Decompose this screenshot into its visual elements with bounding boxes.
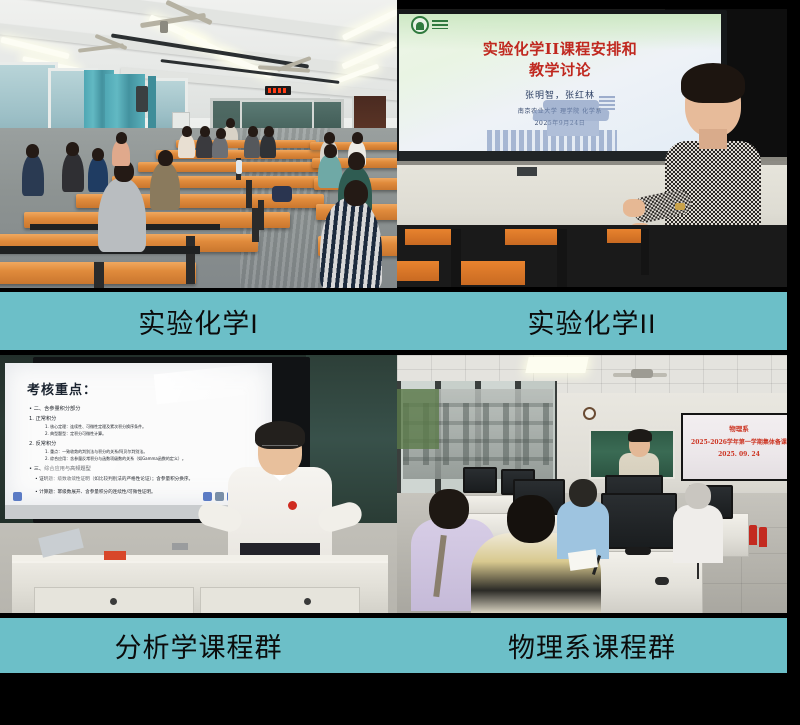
ceiling-fan-icon — [613, 369, 667, 379]
fire-extinguisher — [749, 525, 757, 545]
wall-mount-bracket — [517, 167, 537, 176]
paper-sheet — [568, 549, 598, 571]
audience-member — [88, 156, 108, 192]
control-panel — [172, 543, 188, 550]
presenter-hand — [623, 199, 645, 217]
teacher-badge — [288, 501, 297, 510]
panel-top-left[interactable]: 实验化学I — [0, 0, 397, 350]
screen-toolbar-icon — [13, 492, 22, 501]
audience-head — [66, 142, 79, 156]
presenter-neck — [699, 129, 727, 149]
seated-person-head — [429, 489, 469, 529]
audience-head — [26, 144, 39, 158]
podium-drawer — [200, 587, 360, 613]
slide-title: 考核重点： — [27, 379, 97, 398]
caption-bottom-right: 物理系课程群 — [397, 618, 787, 673]
audience-member — [178, 134, 195, 158]
presenter-watch — [675, 203, 685, 210]
audience-member — [62, 152, 84, 192]
audience-head — [158, 150, 173, 166]
audience-member — [260, 134, 276, 158]
seat-post — [451, 229, 461, 287]
audience-head — [116, 132, 127, 144]
seated-person-head — [569, 479, 597, 507]
slide-line: 1. 核心定理：连续性、可微性定理及累次积分换序条件。 — [45, 424, 146, 430]
panel-bottom-left[interactable]: 考核重点： • 二、含参量积分部分 1. 正常积分 1. 核心定理：连续性、可微… — [0, 350, 397, 725]
panel-bottom-right[interactable]: 物理系 2025-2026学年第一学期集体备课 2025. 09. 24 — [397, 350, 800, 725]
slide-line: 1. 正常积分 — [29, 415, 56, 422]
university-logo-icon — [407, 16, 449, 34]
drawer-knob — [110, 598, 117, 605]
screen-toolbar-icon — [215, 492, 224, 501]
photo-computer-lab: 物理系 2025-2026学年第一学期集体备课 2025. 09. 24 — [397, 355, 787, 613]
projector-screen: 实验化学II课程安排和 教学讨论 张明智，张红林 南京农业大学 理学院 化学系 … — [399, 14, 721, 151]
mouse — [655, 577, 669, 585]
audience-head — [352, 132, 363, 144]
monitor-stand — [625, 547, 651, 555]
red-box — [104, 551, 126, 560]
seated-person-head — [507, 495, 555, 543]
display-screen: 物理系 2025-2026学年第一学期集体备课 2025. 09. 24 — [681, 413, 787, 481]
slide-subtitle: 2025-2026学年第一学期集体备课 — [683, 437, 787, 446]
slide-date: 2025. 09. 24 — [683, 451, 787, 458]
display-screen-content: 物理系 2025-2026学年第一学期集体备课 2025. 09. 24 — [683, 415, 787, 479]
screen-toolbar-icon — [203, 492, 212, 501]
desk-support — [186, 236, 195, 284]
slide-title-line2: 教学讨论 — [399, 59, 721, 80]
photo-projector-presentation: 实验化学II课程安排和 教学讨论 张明智，张红林 南京农业大学 理学院 化学系 … — [397, 9, 787, 287]
audience-member — [98, 178, 146, 252]
audience-head — [324, 132, 335, 144]
audience-member — [196, 134, 213, 158]
slide-title-line1: 实验化学II课程安排和 — [399, 38, 721, 59]
desk-support — [94, 262, 104, 288]
audience-head — [248, 126, 258, 137]
ceiling-panel-light — [525, 357, 588, 373]
caption-top-left: 实验化学I — [0, 292, 397, 350]
presenter-hair — [681, 63, 745, 103]
laptop — [38, 528, 84, 558]
desk-row — [112, 176, 334, 188]
audience-head — [324, 144, 337, 158]
screen-glare — [154, 364, 261, 405]
slide-line: 2. 反常积分 — [29, 440, 56, 447]
water-bottle — [236, 160, 242, 174]
drawer-knob — [304, 598, 311, 605]
seat-post — [557, 229, 567, 287]
led-clock-display — [265, 86, 291, 95]
slide-line: 1. 重点：一致收敛的判别法与积分的关系/阿贝尔判别法。 — [45, 449, 147, 455]
audience-head — [216, 128, 226, 139]
monitor — [601, 493, 677, 549]
photo-whiteboard-lecture: 考核重点： • 二、含参量积分部分 1. 正常积分 1. 核心定理：连续性、可微… — [0, 355, 397, 613]
audience-member — [22, 154, 44, 196]
photo-grid: 实验化学I 实验化学II课程安排和 教学讨论 张明智，张红林 南京农业大学 理学… — [0, 0, 800, 725]
audience-member — [212, 136, 228, 158]
audience-head — [92, 148, 104, 161]
outside-foliage — [397, 389, 439, 449]
seated-person-head — [685, 483, 711, 509]
wall-clock-icon — [583, 407, 596, 420]
fire-extinguisher — [759, 527, 767, 547]
photo-lecture-hall — [0, 0, 397, 288]
seated-person — [673, 505, 723, 563]
seat — [397, 261, 439, 281]
desk-support — [246, 180, 252, 208]
desk-support — [258, 200, 264, 230]
seat — [405, 229, 451, 245]
seat-post — [641, 229, 649, 275]
caption-top-right: 实验化学II — [397, 292, 787, 350]
audience-member — [244, 134, 260, 158]
panel-top-right[interactable]: 实验化学II课程安排和 教学讨论 张明智，张红林 南京农业大学 理学院 化学系 … — [397, 0, 800, 350]
seat — [505, 229, 557, 245]
audience-head — [182, 126, 192, 137]
audience-member — [150, 162, 180, 210]
slide-title: 物理系 — [683, 423, 787, 433]
audience-head — [348, 152, 365, 170]
slide-line: • 二、含参量积分部分 — [29, 405, 80, 412]
caption-bottom-left: 分析学课程群 — [0, 618, 397, 673]
slide-line: • 计算题：幂级数展开、含参量积分的连续性/可微性证明。 — [35, 489, 156, 495]
speaker — [136, 86, 148, 112]
monitor — [463, 467, 497, 493]
audience-head — [200, 126, 210, 137]
seat — [607, 229, 643, 243]
audience-head — [344, 180, 368, 206]
audience-head — [264, 126, 274, 137]
audience-member — [320, 198, 382, 288]
standing-teacher-hair — [628, 429, 652, 442]
seat — [459, 261, 525, 285]
campus-gate-illustration — [487, 100, 617, 152]
backpack — [272, 186, 292, 202]
front-lecturer-head — [226, 118, 235, 128]
slide-line: 2. 典型题型：定积分可微性计算。 — [45, 431, 106, 437]
teacher-glasses-icon — [262, 445, 298, 451]
